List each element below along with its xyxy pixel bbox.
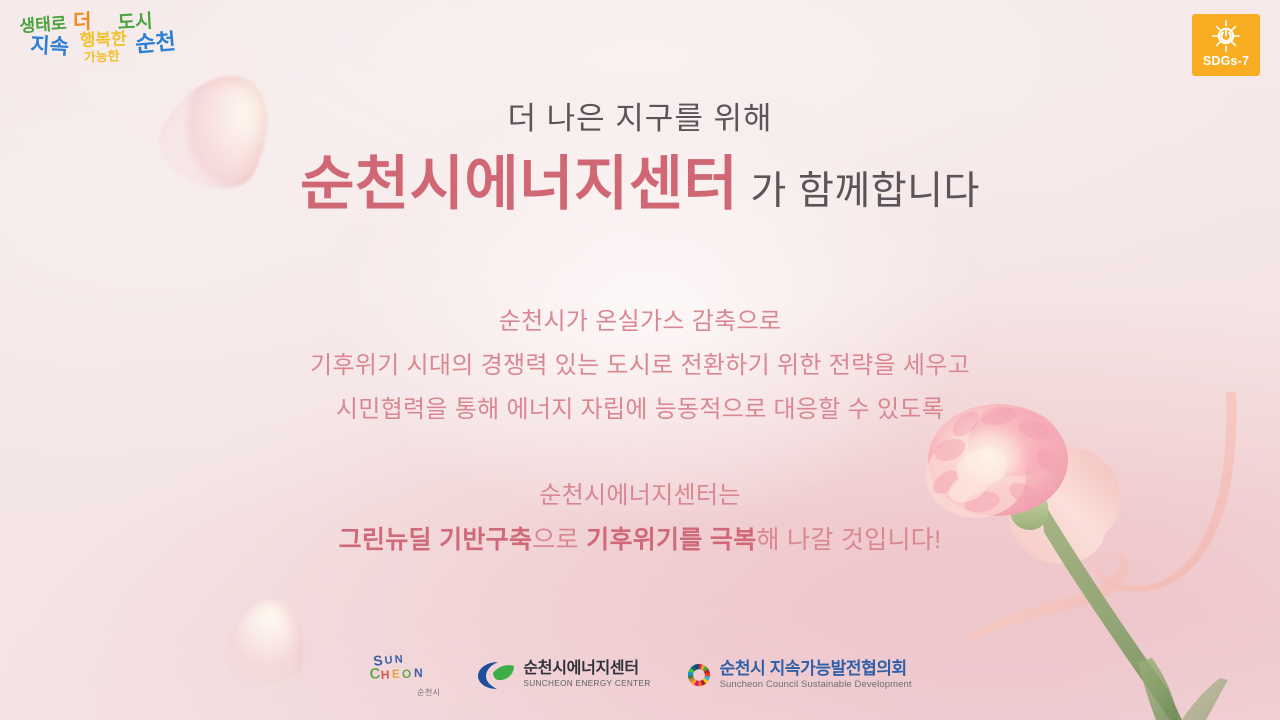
body-line-4: 순천시에너지센터는 [0,474,1280,518]
body-emphasis-green-new-deal: 그린뉴딜 기반구축 [339,526,533,554]
body-line-5-mid: 으로 [532,526,586,554]
sun-power-icon [1207,19,1245,53]
suncheon-city-footer-logo: S U N C H E O N 순천시 [368,652,442,698]
body-emphasis-climate-crisis: 기후위기를 극복 [586,526,756,554]
headline-block: 더 나은 지구를 위해 순천시에너지센터가 함께합니다 [0,100,1280,217]
energy-center-name-ko: 순천시에너지센터 [523,661,650,678]
energy-center-name-en: SUNCHEON ENERGY CENTER [523,680,650,689]
body-copy-spacer [0,432,1280,474]
svg-text:H: H [381,668,390,682]
footer-logo-row: S U N C H E O N 순천시 순천시에너지센터 SUNCHEON EN… [0,652,1280,698]
energy-center-leaf-icon [476,659,516,691]
svg-text:더: 더 [73,10,91,33]
council-text-group: 순천시 지속가능발전협의회 Suncheon Council Sustainab… [720,660,912,690]
headline-kicker: 더 나은 지구를 위해 [0,100,1280,137]
svg-text:N: N [395,653,404,666]
svg-text:지속: 지속 [30,34,70,59]
body-line-1: 순천시가 온실가스 감축으로 [0,300,1280,344]
body-copy-block: 순천시가 온실가스 감축으로 기후위기 시대의 경쟁력 있는 도시로 전환하기 … [0,300,1280,562]
sdg-7-badge: SDGs-7 [1192,14,1260,76]
headline-main: 순천시에너지센터가 함께합니다 [0,151,1280,217]
svg-text:U: U [384,654,393,667]
council-name-en: Suncheon Council Sustainable Development [720,680,912,690]
svg-text:O: O [402,667,412,681]
sdg-color-wheel-icon [685,661,713,689]
energy-center-text-group: 순천시에너지센터 SUNCHEON ENERGY CENTER [523,661,650,688]
body-line-2: 기후위기 시대의 경쟁력 있는 도시로 전환하기 위한 전략을 세우고 [0,344,1280,388]
headline-emphasis-text: 순천시에너지센터 [300,151,738,217]
sdg-badge-label: SDGs-7 [1203,54,1249,68]
suncheon-city-sub-label: 순천시 [417,687,440,698]
body-line-5-tail: 해 나갈 것입니다! [757,526,942,554]
headline-tail-text: 가 함께합니다 [750,170,980,213]
svg-text:순천: 순천 [134,29,177,57]
suncheon-wordmark-icon: S U N C H E O N [368,652,442,686]
svg-text:가능한: 가능한 [83,48,120,65]
suncheon-city-brand-logo: 생태로 더 도시 지속 행복한 순천 가능한 [18,6,196,66]
council-footer-logo: 순천시 지속가능발전협의회 Suncheon Council Sustainab… [685,660,912,690]
svg-text:행복한: 행복한 [79,29,127,50]
svg-text:E: E [392,667,400,681]
svg-text:N: N [414,666,423,680]
svg-text:생태로: 생태로 [19,14,67,36]
energy-center-footer-logo: 순천시에너지센터 SUNCHEON ENERGY CENTER [476,659,650,691]
poster-canvas: 생태로 더 도시 지속 행복한 순천 가능한 SDGs- [0,0,1280,720]
body-line-3: 시민협력을 통해 에너지 자립에 능동적으로 대응할 수 있도록 [0,388,1280,432]
body-line-5: 그린뉴딜 기반구축으로 기후위기를 극복해 나갈 것입니다! [0,518,1280,562]
council-name-ko: 순천시 지속가능발전협의회 [720,660,912,678]
